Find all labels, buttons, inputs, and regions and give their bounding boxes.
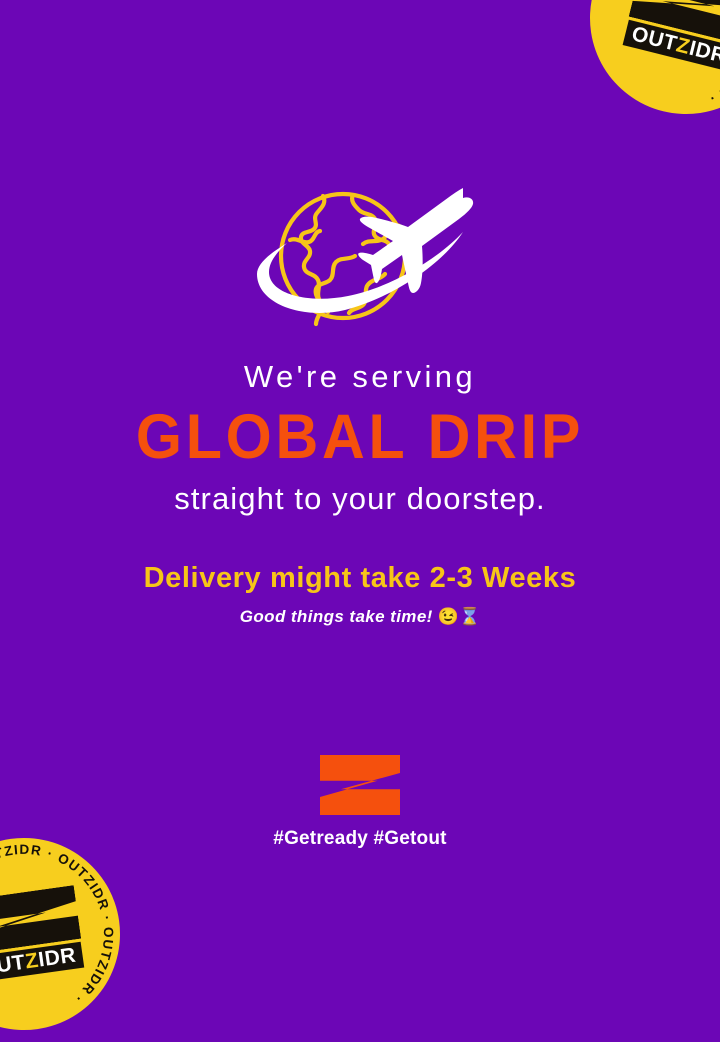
badge-wordmark-prefix: OUT bbox=[0, 951, 27, 980]
note-emoji: 😉⌛ bbox=[438, 607, 480, 626]
eyebrow-text: We're serving bbox=[0, 360, 720, 394]
message-block: We're serving GLOBAL DRIP straight to yo… bbox=[0, 360, 720, 627]
orbit-swoosh bbox=[257, 232, 463, 313]
poster-canvas: { "theme": { "background": "#6C06B6", "o… bbox=[0, 0, 720, 960]
headline-text: GLOBAL DRIP bbox=[22, 402, 699, 473]
note-row: Good things take time! 😉⌛ bbox=[0, 607, 720, 627]
footer-brand-block: #Getready #Getout bbox=[0, 755, 720, 850]
subhead-text: straight to your doorstep. bbox=[0, 482, 720, 516]
note-text: Good things take time! bbox=[240, 607, 433, 626]
brand-badge-top-right: OUTZIDR · OUTZIDR · OUTZIDR · OUTZIDR · … bbox=[570, 0, 720, 134]
outzidr-z-logo-icon bbox=[320, 755, 400, 815]
brand-badge-bottom-left: OUTZIDR · OUTZIDR · OUTZIDR · OUTZIDR · … bbox=[0, 826, 132, 1042]
globe-airplane-icon bbox=[235, 178, 485, 343]
delivery-notice-text: Delivery might take 2-3 Weeks bbox=[0, 562, 720, 595]
badge-wordmark-suffix: IDR bbox=[37, 944, 78, 972]
hashtags-text: #Getready #Getout bbox=[0, 828, 720, 850]
